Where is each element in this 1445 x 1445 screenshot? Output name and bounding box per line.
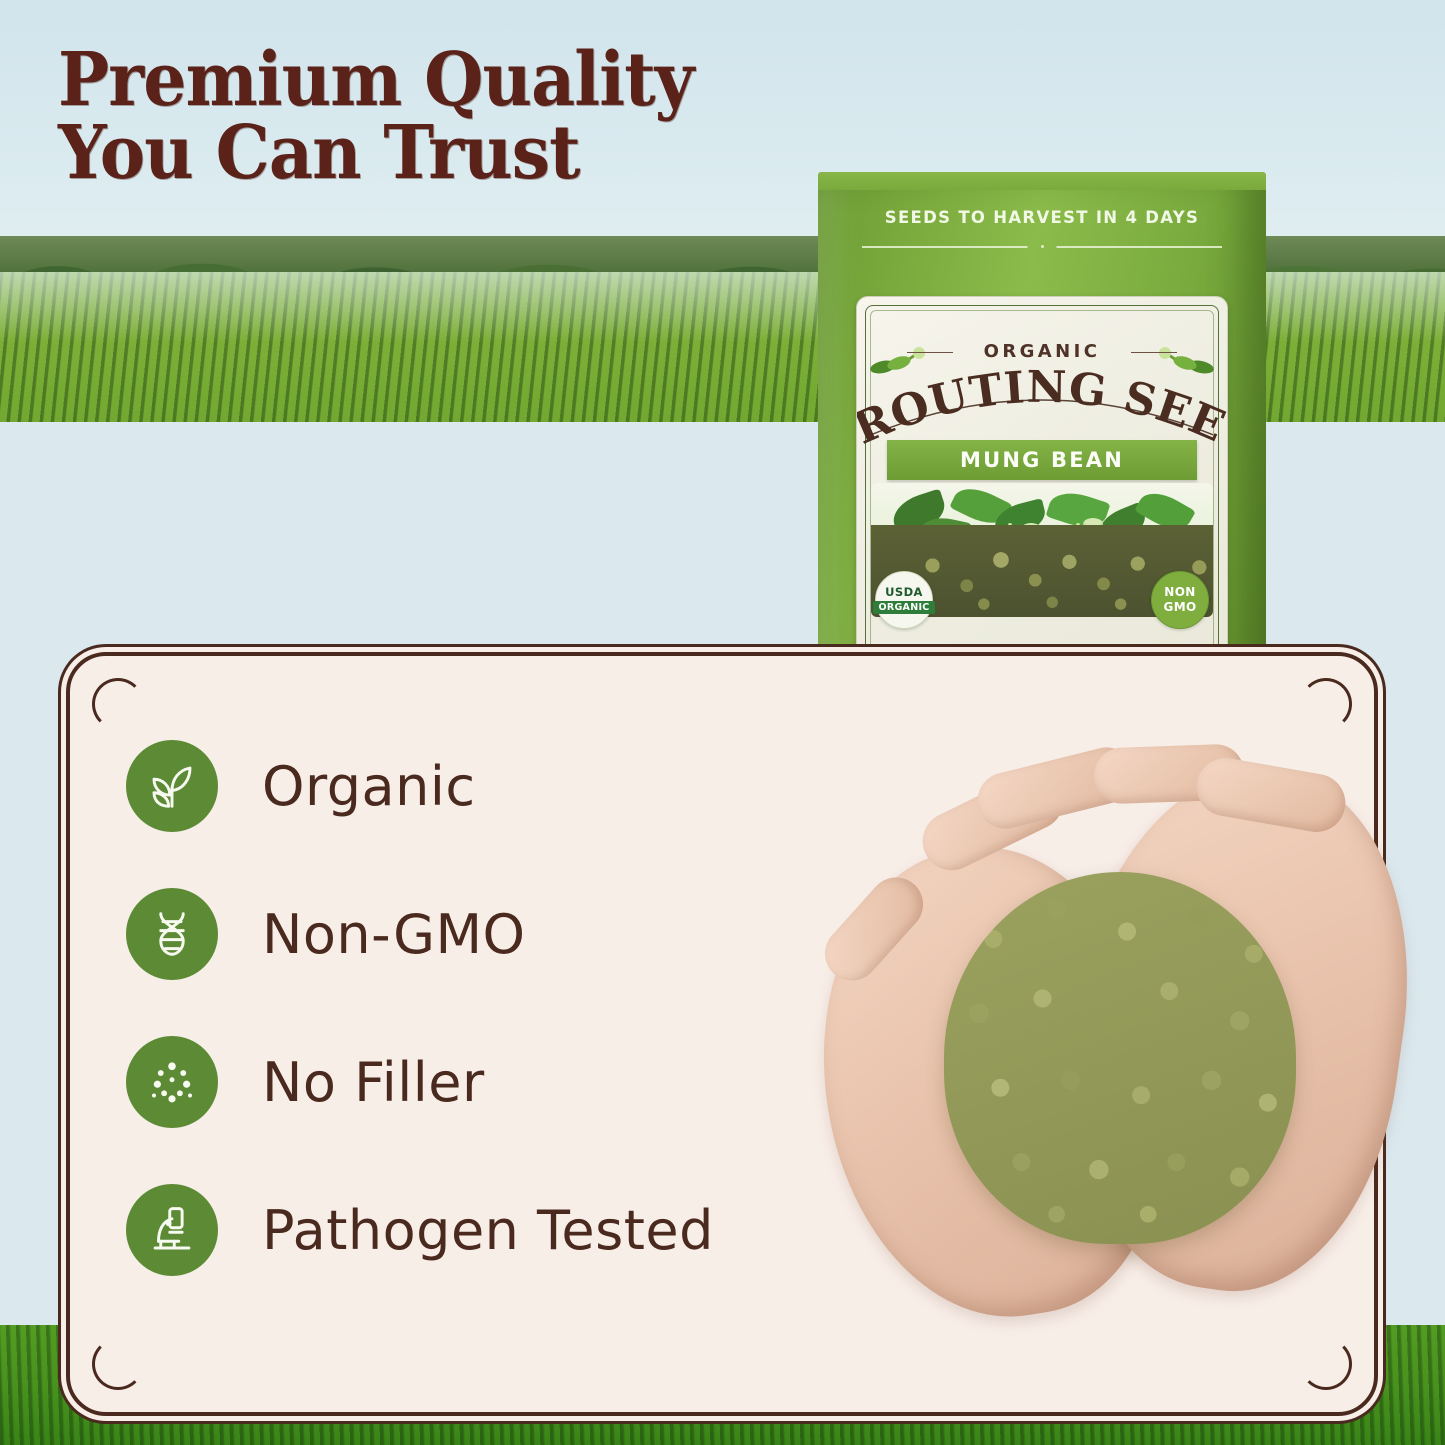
package-tagline: SEEDS TO HARVEST IN 4 DAYS: [818, 208, 1266, 227]
label-title-arc: SPROUTING SEEDS: [857, 355, 1227, 447]
label-variety-text: MUNG BEAN: [960, 448, 1124, 472]
leaf-icon: [126, 740, 218, 832]
page-title: Premium Quality You Can Trust: [58, 44, 794, 189]
product-package: SEEDS TO HARVEST IN 4 DAYS ORGANIC: [818, 172, 1266, 734]
product-infographic: Premium Quality You Can Trust SEEDS TO H…: [0, 0, 1445, 1445]
usda-seal-line-1: USDA: [885, 586, 923, 598]
label-title-text: SPROUTING SEEDS: [857, 355, 1227, 447]
headline-line-2: You Can Trust: [58, 117, 794, 190]
non-gmo-seal-line-1: NON: [1164, 586, 1196, 599]
card-corner-bottom-left: [92, 1338, 144, 1390]
usda-seal-line-2: ORGANIC: [873, 601, 934, 614]
non-gmo-seal-line-2: GMO: [1164, 600, 1197, 614]
label-variety-ribbon: MUNG BEAN: [887, 440, 1197, 480]
card-corner-top-right: [1300, 678, 1352, 730]
feature-item-organic: Organic: [126, 712, 846, 860]
particles-icon: [126, 1036, 218, 1128]
microscope-icon: [126, 1184, 218, 1276]
feature-label-non-gmo: Non-GMO: [262, 903, 526, 966]
dna-icon: [126, 888, 218, 980]
feature-label-pathogen-tested: Pathogen Tested: [262, 1199, 714, 1262]
feature-item-non-gmo: Non-GMO: [126, 860, 846, 1008]
feature-list: Organic Non-GMO: [126, 712, 846, 1304]
package-zipper: [862, 246, 1222, 248]
usda-organic-seal: USDA ORGANIC: [875, 571, 933, 629]
mung-bean-mound: [944, 872, 1296, 1244]
hands-holding-mung-beans: [826, 752, 1398, 1362]
feature-label-organic: Organic: [262, 755, 476, 818]
feature-label-no-filler: No Filler: [262, 1051, 485, 1114]
package-top-seal: [818, 172, 1266, 190]
non-gmo-seal: NON GMO: [1151, 571, 1209, 629]
feature-item-no-filler: No Filler: [126, 1008, 846, 1156]
feature-item-pathogen-tested: Pathogen Tested: [126, 1156, 846, 1304]
package-label: ORGANIC SPROUTING SEEDS MUNG BEAN: [856, 296, 1228, 688]
